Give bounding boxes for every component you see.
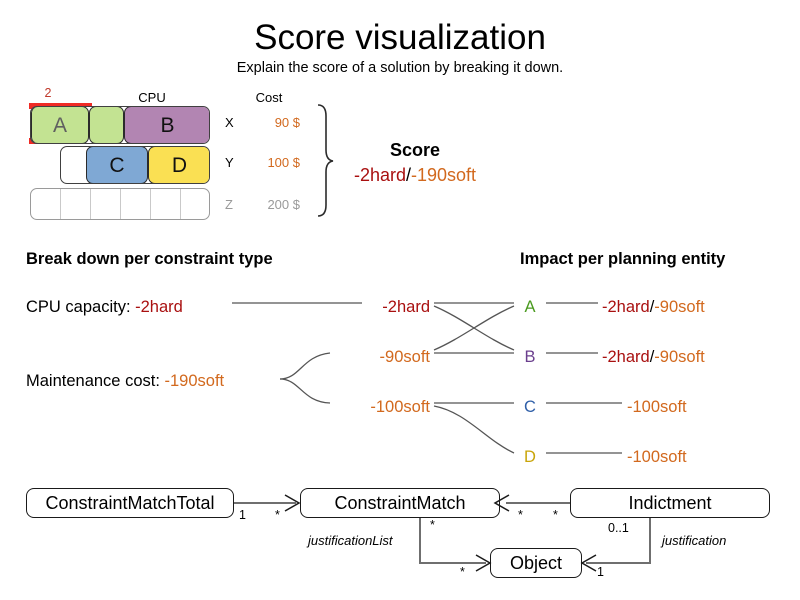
process-block-a-overflow[interactable] [89, 106, 124, 144]
process-block-d[interactable]: D [148, 146, 210, 184]
section-heading-impact: Impact per planning entity [520, 250, 725, 269]
uml-box-object[interactable]: Object [490, 548, 582, 578]
entity-impact-b-soft: -90soft [654, 348, 704, 366]
entity-letter-d[interactable]: D [518, 448, 542, 466]
process-label-d: D [172, 155, 187, 176]
uml-multiplicity-indictment-cm-b: * [553, 508, 558, 522]
constraint-maintenance-cost[interactable]: Maintenance cost: -190soft [26, 372, 224, 390]
link-90soft-to-a [434, 306, 514, 350]
uml-box-constraint-match[interactable]: ConstraintMatch [300, 488, 500, 518]
constraint-cpu-capacity-label: CPU capacity: [26, 298, 131, 316]
link-2hard-to-b [434, 306, 514, 350]
entity-impact-a-soft: -90soft [654, 298, 704, 316]
uml-multiplicity-indictment-object: 0..1 [608, 521, 629, 535]
score-visualization-page: Score visualization Explain the score of… [0, 0, 800, 600]
entity-impact-d[interactable]: -100soft [627, 448, 687, 466]
page-title: Score visualization [0, 18, 800, 58]
machine-cost-z: 200 $ [246, 197, 300, 212]
match-value-2hard[interactable]: -2hard [300, 298, 430, 316]
process-label-a: A [53, 115, 67, 136]
machine-z-cell [121, 189, 151, 220]
uml-role-justification-list: justificationList [308, 533, 393, 548]
machine-cost-y: 100 $ [246, 155, 300, 170]
score-soft: -190soft [411, 165, 476, 185]
uml-box-constraint-match-label: ConstraintMatch [334, 493, 465, 514]
uml-arrow-object-from-indictment [582, 555, 596, 571]
score-value: -2hard/-190soft [300, 165, 530, 186]
match-value-90soft[interactable]: -90soft [300, 348, 430, 366]
machine-name-y: Y [225, 155, 234, 170]
machine-cost-x: 90 $ [246, 115, 300, 130]
uml-arrow-cm [285, 495, 299, 511]
uml-role-justification: justification [662, 533, 726, 548]
entity-impact-c[interactable]: -100soft [627, 398, 687, 416]
overload-badge: 2 [36, 86, 60, 100]
uml-multiplicity-cmt-source: 1 [239, 508, 246, 522]
entity-letter-a[interactable]: A [518, 298, 542, 316]
process-label-b: B [160, 115, 174, 136]
process-block-c[interactable]: C [86, 146, 148, 184]
machine-bar-y[interactable]: C D [60, 146, 210, 184]
constraint-maintenance-cost-value: -190soft [165, 372, 225, 390]
entity-impact-b[interactable]: -2hard/-90soft [602, 348, 705, 366]
constraint-maintenance-cost-label: Maintenance cost: [26, 372, 160, 390]
machine-bar-z[interactable] [30, 188, 210, 220]
process-block-a[interactable]: A [31, 106, 89, 144]
entity-impact-a-hard: -2hard [602, 298, 650, 316]
uml-box-object-label: Object [510, 553, 562, 574]
constraint-cpu-capacity-value: -2hard [135, 298, 183, 316]
machine-bar-x[interactable]: A B [30, 106, 210, 144]
column-header-cpu: CPU [112, 90, 192, 105]
entity-letter-b[interactable]: B [518, 348, 542, 366]
section-heading-breakdown: Break down per constraint type [26, 250, 273, 269]
constraint-cpu-capacity[interactable]: CPU capacity: -2hard [26, 298, 183, 316]
uml-multiplicity-object-from-cm: * [460, 565, 465, 579]
uml-box-constraint-match-total[interactable]: ConstraintMatchTotal [26, 488, 234, 518]
score-hard: -2hard [354, 165, 406, 185]
uml-multiplicity-cmt-target: * [275, 508, 280, 522]
machine-name-x: X [225, 115, 234, 130]
page-subtitle: Explain the score of a solution by break… [0, 60, 800, 76]
score-title: Score [330, 140, 500, 161]
uml-box-indictment[interactable]: Indictment [570, 488, 770, 518]
uml-multiplicity-indictment-cm-a: * [518, 508, 523, 522]
uml-multiplicity-object-from-indictment: 1 [597, 565, 604, 579]
machine-name-z: Z [225, 197, 233, 212]
column-header-cost: Cost [232, 90, 306, 105]
link-100soft-to-d [434, 406, 514, 453]
machine-z-cell [61, 189, 91, 220]
entity-letter-c[interactable]: C [518, 398, 542, 416]
machine-z-cell [151, 189, 181, 220]
uml-box-indictment-label: Indictment [628, 493, 711, 514]
machine-z-cell [91, 189, 121, 220]
uml-multiplicity-cm-to-object: * [430, 518, 435, 532]
uml-box-constraint-match-total-label: ConstraintMatchTotal [45, 493, 214, 514]
match-value-100soft[interactable]: -100soft [300, 398, 430, 416]
entity-impact-b-hard: -2hard [602, 348, 650, 366]
process-block-b[interactable]: B [124, 106, 210, 144]
machine-z-cell [31, 189, 61, 220]
uml-arrow-object-from-cm [476, 555, 490, 571]
process-label-c: C [109, 155, 124, 176]
entity-impact-a[interactable]: -2hard/-90soft [602, 298, 705, 316]
